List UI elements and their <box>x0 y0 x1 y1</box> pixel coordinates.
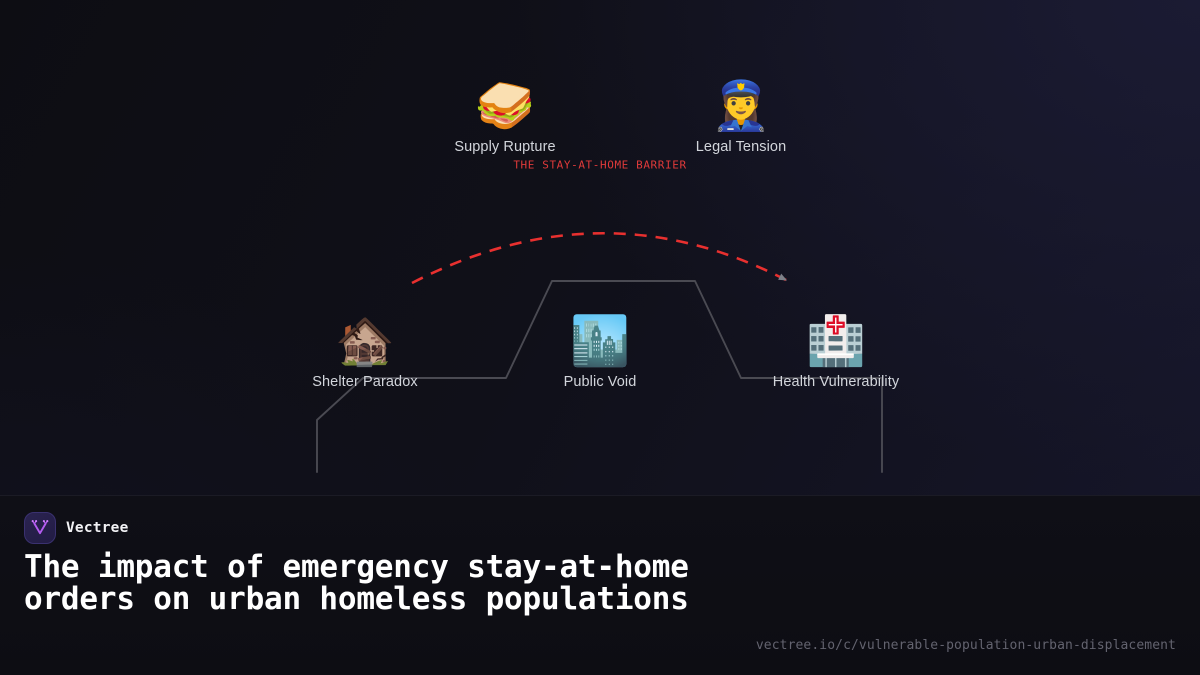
node-label-health-vulnerability: Health Vulnerability <box>721 374 951 390</box>
cityscape-emoji: 🏙️ <box>485 317 715 365</box>
concept-map-canvas: THE STAY-AT-HOME BARRIER 🥪 Supply Ruptur… <box>0 0 1200 495</box>
stay-at-home-barrier-arrow <box>412 233 786 283</box>
brand-lockup[interactable]: Vectree <box>24 512 129 544</box>
node-legal-tension[interactable]: 👮‍♀️ Legal Tension <box>626 82 856 155</box>
node-public-void[interactable]: 🏙️ Public Void <box>485 317 715 390</box>
node-label-shelter-paradox: Shelter Paradox <box>250 374 480 390</box>
node-shelter-paradox[interactable]: 🏚️ Shelter Paradox <box>250 317 480 390</box>
node-label-legal-tension: Legal Tension <box>626 139 856 155</box>
social-card: THE STAY-AT-HOME BARRIER 🥪 Supply Ruptur… <box>0 0 1200 675</box>
card-footer: Vectree The impact of emergency stay-at-… <box>0 495 1200 675</box>
vectree-v-tree-icon <box>24 512 56 544</box>
police-officer-emoji: 👮‍♀️ <box>626 82 856 130</box>
connector-layer <box>0 0 1200 495</box>
node-label-supply-rupture: Supply Rupture <box>390 139 620 155</box>
hospital-emoji: 🏥 <box>721 317 951 365</box>
sandwich-emoji: 🥪 <box>390 82 620 130</box>
card-headline: The impact of emergency stay-at-home ord… <box>24 551 784 615</box>
edge-label-stay-at-home-barrier: THE STAY-AT-HOME BARRIER <box>513 159 686 172</box>
node-supply-rupture[interactable]: 🥪 Supply Rupture <box>390 82 620 155</box>
node-health-vulnerability[interactable]: 🏥 Health Vulnerability <box>721 317 951 390</box>
derelict-house-emoji: 🏚️ <box>250 317 480 365</box>
card-url: vectree.io/c/vulnerable-population-urban… <box>756 638 1176 653</box>
node-label-public-void: Public Void <box>485 374 715 390</box>
brand-name: Vectree <box>66 520 129 536</box>
